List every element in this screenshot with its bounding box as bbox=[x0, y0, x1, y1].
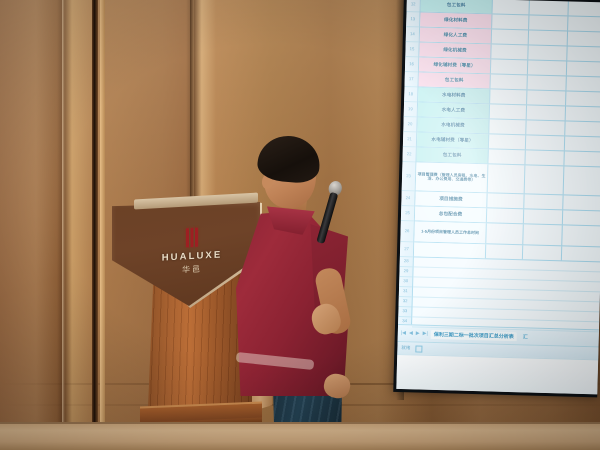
row-header[interactable]: 22 bbox=[402, 147, 415, 162]
cell-d[interactable] bbox=[562, 225, 600, 246]
cell-d[interactable] bbox=[566, 106, 600, 121]
cell-c[interactable] bbox=[523, 224, 563, 245]
cell-b[interactable] bbox=[485, 279, 521, 289]
cell-c[interactable] bbox=[526, 135, 565, 150]
cell-b[interactable] bbox=[490, 104, 527, 119]
cell-c[interactable] bbox=[525, 150, 564, 165]
cell-b[interactable] bbox=[491, 44, 528, 59]
cell-c[interactable] bbox=[524, 194, 563, 209]
cell-d[interactable] bbox=[568, 1, 600, 16]
cell-label[interactable]: 绿化辅材费（零星） bbox=[419, 57, 491, 73]
cell-b[interactable] bbox=[493, 0, 530, 14]
cell-d[interactable] bbox=[559, 301, 600, 311]
brand-wordmark-cn: 华邑 bbox=[146, 262, 238, 278]
sheet-tab-next[interactable]: 汇 bbox=[520, 332, 531, 341]
cell-b[interactable] bbox=[485, 299, 521, 309]
row-header[interactable]: 13 bbox=[406, 12, 419, 27]
screen-surface: 12 13 14 15 16 17 18 19 20 21 22 23 24 2… bbox=[396, 0, 600, 394]
cell-label[interactable]: 绿化材料费 bbox=[420, 12, 492, 28]
row-header[interactable]: 18 bbox=[404, 87, 417, 102]
cell-label[interactable]: 水电辅材费（零星） bbox=[417, 132, 489, 148]
hualuxe-emblem-icon bbox=[186, 228, 198, 248]
cell-c[interactable] bbox=[521, 280, 559, 290]
cell-label[interactable]: 总包配合费 bbox=[415, 206, 487, 222]
spreadsheet: 12 13 14 15 16 17 18 19 20 21 22 23 24 2… bbox=[396, 0, 600, 394]
cell-c[interactable] bbox=[521, 270, 559, 280]
row-header[interactable]: 25 bbox=[401, 206, 414, 221]
cell-label[interactable]: 水电人工费 bbox=[418, 102, 490, 118]
cell-label[interactable]: 绿化机械费 bbox=[419, 42, 491, 58]
row-header[interactable]: 16 bbox=[405, 57, 418, 72]
cell-b[interactable] bbox=[490, 89, 527, 104]
row-header[interactable]: 30 bbox=[399, 277, 412, 287]
cell-c[interactable] bbox=[525, 165, 565, 194]
status-ready-label: 就绪 bbox=[401, 345, 410, 351]
floor-edge bbox=[0, 422, 600, 424]
row-header[interactable]: 29 bbox=[399, 267, 412, 277]
cell-label[interactable] bbox=[413, 287, 485, 298]
spreadsheet-cells: 包工包料 绿化材料费 绿化人工费 bbox=[412, 0, 600, 329]
cell-c[interactable] bbox=[529, 0, 568, 15]
cell-d[interactable] bbox=[568, 31, 600, 46]
cell-b[interactable] bbox=[487, 193, 524, 208]
cell-b[interactable] bbox=[488, 149, 525, 164]
row-header[interactable]: 15 bbox=[405, 42, 418, 57]
cell-c[interactable] bbox=[527, 105, 566, 120]
row-header[interactable]: 21 bbox=[403, 132, 416, 147]
cell-d[interactable] bbox=[560, 261, 600, 271]
sheet-empty-area bbox=[396, 354, 598, 394]
cell-label[interactable] bbox=[412, 317, 484, 328]
row-header[interactable]: 24 bbox=[401, 191, 414, 206]
last-sheet-icon[interactable]: ▶| bbox=[423, 331, 428, 336]
row-header[interactable]: 23 bbox=[402, 162, 416, 191]
row-header[interactable]: 14 bbox=[406, 27, 419, 42]
cell-c[interactable] bbox=[523, 245, 562, 260]
cell-c[interactable] bbox=[524, 209, 563, 224]
wall-trim bbox=[62, 0, 65, 450]
cell-c[interactable] bbox=[528, 45, 567, 60]
cell-d[interactable] bbox=[558, 321, 599, 331]
cell-label[interactable]: 绿化人工费 bbox=[420, 27, 492, 43]
cell-c[interactable] bbox=[520, 310, 558, 320]
cell-b[interactable] bbox=[484, 309, 520, 319]
cell-b[interactable] bbox=[489, 119, 526, 134]
grid-view-icon[interactable] bbox=[415, 345, 422, 352]
cell-c[interactable] bbox=[527, 90, 566, 105]
row-header[interactable]: 27 bbox=[400, 242, 413, 257]
cell-d[interactable] bbox=[565, 136, 600, 151]
cell-label[interactable]: 项目措施费 bbox=[415, 191, 487, 207]
cell-d[interactable] bbox=[564, 166, 600, 195]
cell-d[interactable] bbox=[566, 91, 600, 106]
spreadsheet-grid: 12 13 14 15 16 17 18 19 20 21 22 23 24 2… bbox=[398, 0, 600, 329]
cell-label[interactable] bbox=[414, 242, 486, 258]
cell-c[interactable] bbox=[529, 15, 568, 30]
cell-d[interactable] bbox=[559, 291, 600, 301]
cell-b[interactable] bbox=[489, 134, 526, 149]
cell-d[interactable] bbox=[565, 121, 600, 136]
cell-d[interactable] bbox=[567, 46, 600, 61]
cell-b[interactable] bbox=[491, 59, 528, 74]
cell-b[interactable] bbox=[492, 29, 529, 44]
cell-label[interactable]: 包工包料 bbox=[419, 72, 491, 88]
row-header[interactable]: 32 bbox=[399, 297, 412, 307]
cell-d[interactable] bbox=[563, 195, 600, 210]
stage-floor bbox=[0, 422, 600, 450]
cell-c[interactable] bbox=[528, 60, 567, 75]
cell-d[interactable] bbox=[559, 281, 600, 291]
presentation-scene: 12 13 14 15 16 17 18 19 20 21 22 23 24 2… bbox=[0, 0, 600, 450]
cell-b[interactable] bbox=[484, 319, 520, 329]
projection-screen: 12 13 14 15 16 17 18 19 20 21 22 23 24 2… bbox=[393, 0, 600, 397]
cell-d[interactable] bbox=[568, 16, 600, 31]
row-header[interactable]: 12 bbox=[407, 0, 420, 12]
prev-sheet-icon[interactable]: ◀ bbox=[409, 331, 413, 336]
cell-label[interactable]: 水电材料费 bbox=[418, 87, 490, 103]
cell-d[interactable] bbox=[567, 61, 600, 76]
cell-d[interactable] bbox=[566, 76, 600, 91]
presenter bbox=[236, 128, 366, 430]
cell-b[interactable] bbox=[485, 269, 521, 279]
cell-label[interactable]: 项目管理费（管理人员房租、水电、生活、办公费用、交通费等） bbox=[416, 162, 489, 192]
wall-groove bbox=[92, 0, 98, 450]
podium-logo: HUALUXE 华邑 bbox=[146, 226, 238, 278]
sheet-tab-active[interactable]: 保利三期二标一批次项目汇总分析表 bbox=[431, 329, 517, 340]
cell-d[interactable] bbox=[559, 271, 600, 281]
next-sheet-icon[interactable]: ▶ bbox=[416, 331, 420, 336]
cell-label[interactable]: 1-5月份项目管理人员工作总时间 bbox=[414, 221, 487, 243]
row-header[interactable]: 31 bbox=[399, 287, 412, 297]
cell-c[interactable] bbox=[520, 320, 558, 330]
cell-label[interactable]: 水电机械费 bbox=[417, 117, 489, 133]
cell-c[interactable] bbox=[527, 75, 566, 90]
cell-c[interactable] bbox=[526, 120, 565, 135]
cell-d[interactable] bbox=[558, 311, 599, 321]
cell-d[interactable] bbox=[564, 151, 600, 166]
cell-b[interactable] bbox=[486, 223, 524, 244]
cell-b[interactable] bbox=[490, 74, 527, 89]
cell-b[interactable] bbox=[487, 208, 524, 223]
cell-b[interactable] bbox=[486, 259, 522, 269]
row-header[interactable]: 17 bbox=[404, 72, 417, 87]
cell-label[interactable]: 包工包料 bbox=[416, 147, 488, 163]
first-sheet-icon[interactable]: |◀ bbox=[401, 331, 406, 336]
row-header[interactable]: 33 bbox=[398, 307, 411, 317]
cell-c[interactable] bbox=[521, 290, 559, 300]
row-header[interactable]: 26 bbox=[400, 221, 414, 242]
wall-highlight bbox=[100, 0, 105, 450]
cell-b[interactable] bbox=[488, 164, 526, 193]
row-header[interactable]: 20 bbox=[403, 117, 416, 132]
cell-c[interactable] bbox=[522, 260, 560, 270]
row-header[interactable]: 19 bbox=[404, 102, 417, 117]
cell-c[interactable] bbox=[529, 30, 568, 45]
cell-b[interactable] bbox=[486, 244, 523, 259]
cell-label[interactable]: 包工包料 bbox=[421, 0, 493, 13]
cell-c[interactable] bbox=[521, 300, 559, 310]
cell-d[interactable] bbox=[562, 246, 600, 261]
cell-d[interactable] bbox=[563, 210, 600, 225]
row-header[interactable]: 28 bbox=[400, 257, 413, 267]
cell-b[interactable] bbox=[492, 14, 529, 29]
presenter-hair bbox=[256, 133, 322, 184]
cell-b[interactable] bbox=[485, 289, 521, 299]
